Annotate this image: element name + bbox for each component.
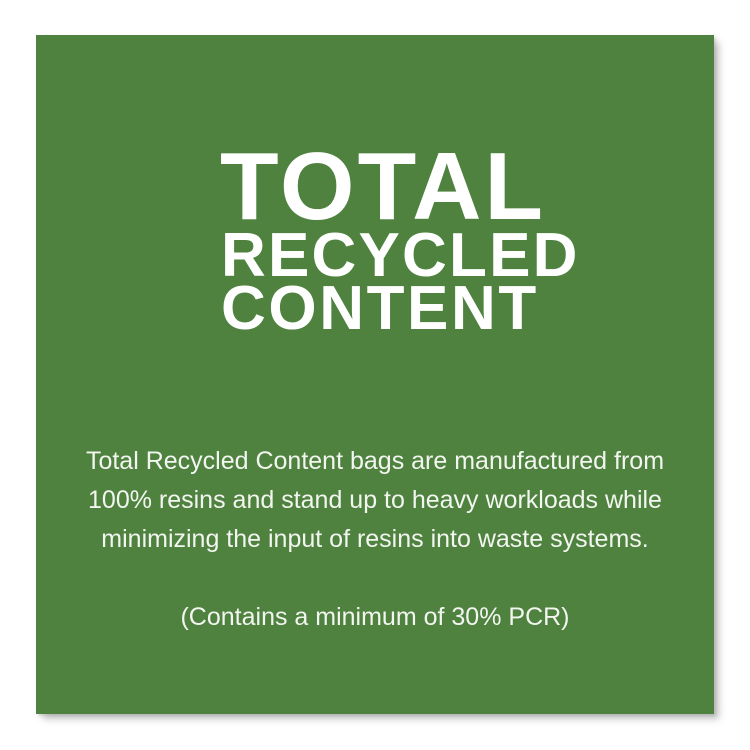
headline-line-total: TOTAL xyxy=(220,145,662,229)
product-info-graphic: TOTAL RECYCLED CONTENT Total Recycled Co… xyxy=(0,0,750,750)
pcr-note: (Contains a minimum of 30% PCR) xyxy=(70,598,680,637)
headline-block: TOTAL RECYCLED CONTENT xyxy=(222,145,662,335)
body-copy-block: Total Recycled Content bags are manufact… xyxy=(70,442,680,637)
paragraph-spacer xyxy=(70,559,680,598)
green-info-card: TOTAL RECYCLED CONTENT Total Recycled Co… xyxy=(36,35,714,714)
description-paragraph: Total Recycled Content bags are manufact… xyxy=(70,442,680,559)
headline-line-content: CONTENT xyxy=(221,282,662,335)
